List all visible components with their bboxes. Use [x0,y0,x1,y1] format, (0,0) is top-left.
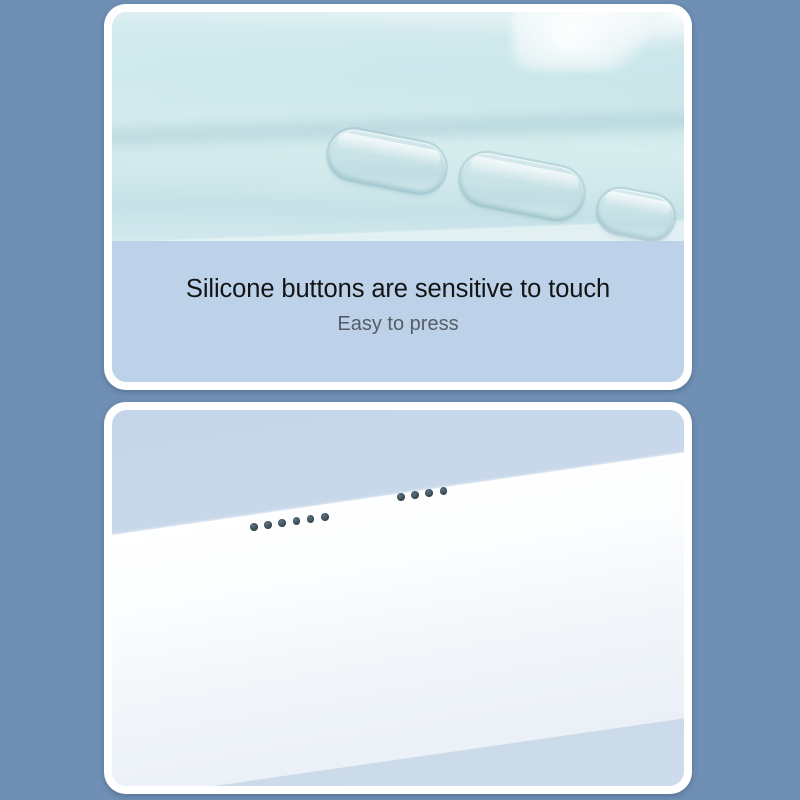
speaker-hole [321,513,329,521]
speaker-hole [411,491,419,499]
speaker-hole [250,523,258,531]
panel-1-caption: Silicone buttons are sensitive to touch … [112,274,684,336]
panel-1-caption-subtitle: Easy to press [112,313,684,336]
infographic-stage: Silicone buttons are sensitive to touch … [0,0,800,800]
speaker-hole [307,515,315,523]
speaker-hole [425,489,433,497]
feature-panel-precise-holes: Precise holes for dust prevention 1:1 re… [104,402,692,794]
feature-panel-silicone-buttons: Silicone buttons are sensitive to touch … [104,4,692,390]
panel-1-caption-title: Silicone buttons are sensitive to touch [112,274,684,305]
panel-1-image: Silicone buttons are sensitive to touch … [112,12,684,382]
speaker-hole [278,519,286,527]
speaker-hole [440,487,448,495]
speaker-hole [397,493,405,501]
speaker-hole [293,517,301,525]
speaker-hole [264,521,272,529]
panel-2-image: Precise holes for dust prevention 1:1 re… [112,410,684,786]
